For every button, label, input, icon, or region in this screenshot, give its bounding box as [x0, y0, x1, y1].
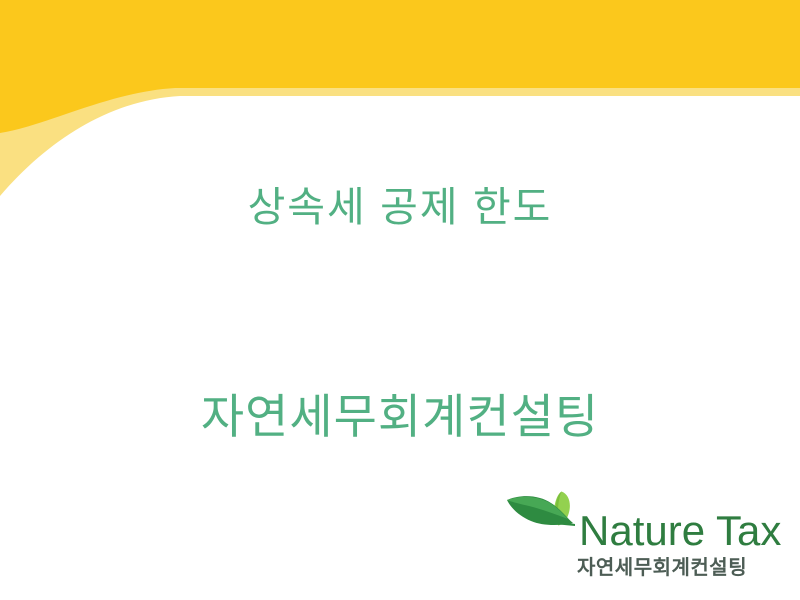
title-slide: 상속세 공제 한도 자연세무회계컨설팅 Nature Tax 자연세무회계컨설팅 — [0, 0, 800, 600]
company-logo: Nature Tax 자연세무회계컨설팅 — [505, 488, 787, 588]
header-band-decoration — [0, 0, 800, 210]
subtitle-block: 자연세무회계컨설팅 — [0, 389, 800, 444]
logo-tagline: 자연세무회계컨설팅 — [577, 558, 747, 578]
leaf-pair-icon — [505, 490, 589, 536]
page-title: 상속세 공제 한도 — [0, 183, 800, 231]
logo-wordmark: Nature Tax — [579, 510, 781, 552]
title-block: 상속세 공제 한도 — [0, 183, 800, 231]
band-primary-shape — [0, 0, 800, 133]
page-subtitle: 자연세무회계컨설팅 — [0, 389, 800, 444]
